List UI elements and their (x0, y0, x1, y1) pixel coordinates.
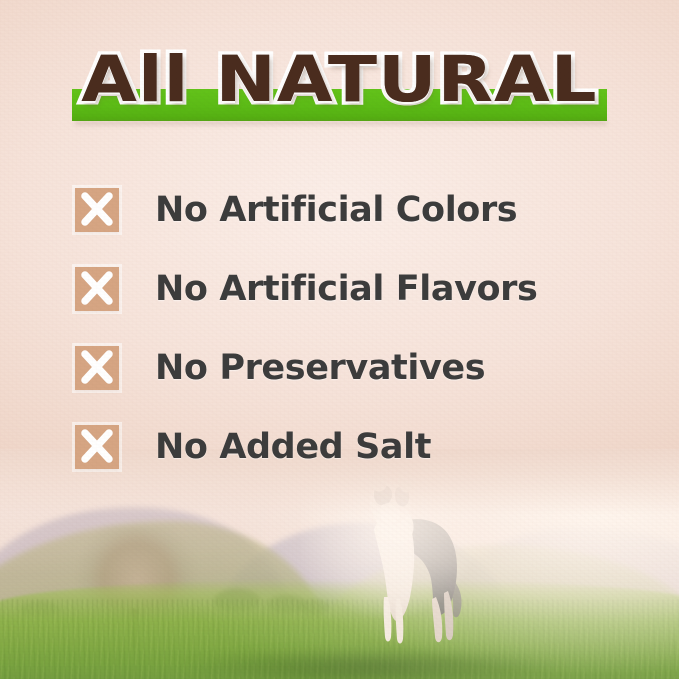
green-banner-shadow (75, 121, 607, 125)
list-item: No Artificial Flavors (0, 249, 679, 328)
page-title: All NATURAL (0, 46, 679, 114)
list-item: No Preservatives (0, 328, 679, 407)
x-mark-icon (75, 188, 119, 232)
title-banner: All NATURAL All NATURAL (0, 46, 679, 140)
x-mark-icon (75, 267, 119, 311)
all-natural-product-poster: All NATURAL All NATURAL No Artificial Co… (0, 0, 679, 679)
x-mark-icon (75, 425, 119, 469)
claim-label: No Preservatives (155, 349, 485, 387)
claim-label: No Added Salt (155, 428, 431, 466)
list-item: No Artificial Colors (0, 170, 679, 249)
list-item: No Added Salt (0, 407, 679, 486)
claim-label: No Artificial Colors (155, 191, 517, 229)
dog (336, 457, 476, 657)
claims-list: No Artificial Colors No Artificial Flavo… (0, 170, 679, 486)
x-mark-icon (75, 346, 119, 390)
claim-label: No Artificial Flavors (155, 270, 537, 308)
